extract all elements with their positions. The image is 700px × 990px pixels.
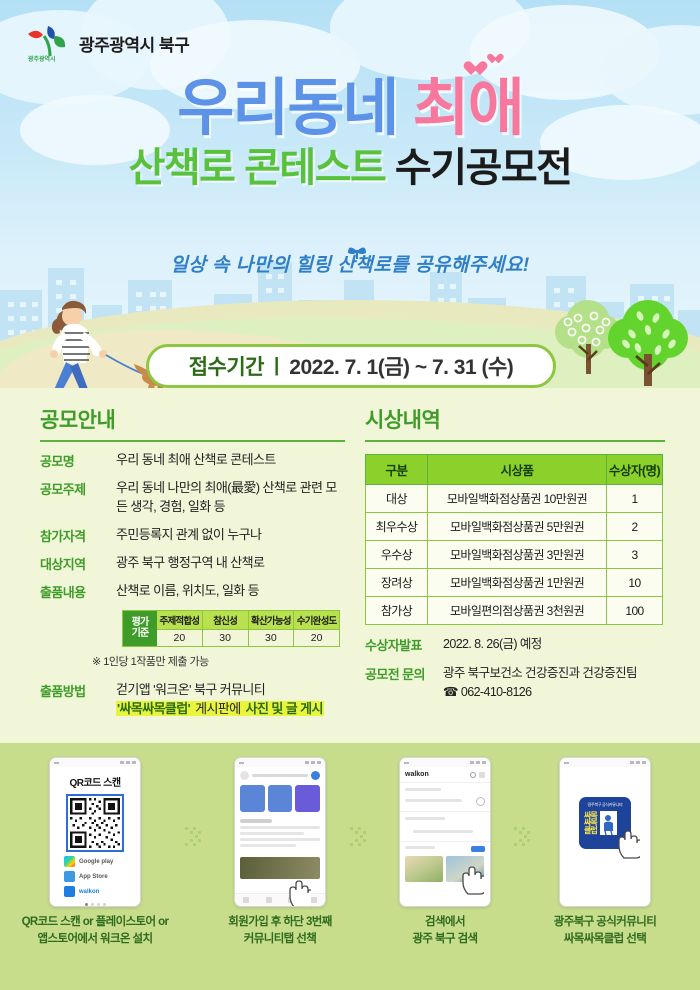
status-icons (470, 761, 486, 764)
submission-note: ※ 1인당 1작품만 제출 가능 (92, 653, 345, 669)
brand-name-label: 광주광역시 북구 (79, 31, 189, 56)
prize-grade: 우수상 (366, 541, 428, 569)
prizes-column: 시상내역 구분 시상품 수상자(명) 대상 모바일백화점상품권 10만원권 1 (365, 404, 665, 702)
card-title-line3: 클럽 (584, 826, 597, 835)
evaluation-body: 주제적합성 참신성 확산가능성 수기완성도 20 30 30 20 (157, 611, 339, 646)
more-badge[interactable] (471, 846, 485, 852)
qr-screen-title: QR코드 스캔 (50, 774, 140, 789)
guide-row-key: 참가자격 (40, 526, 116, 545)
prize-col-item: 시상품 (428, 455, 607, 485)
phone-mockup-2 (234, 757, 326, 907)
feed-item (240, 844, 296, 847)
submission-method-line1: 걷기앱 '워크온' 북구 커뮤니티 (116, 682, 265, 697)
feed-item (240, 826, 320, 829)
community-board-name: '싸목싸목클럽' (116, 701, 191, 716)
guide-row-value: 주민등록지 관계 없이 누구나 (116, 526, 261, 545)
table-row: 우수상 모바일백화점상품권 3만원권 3 (366, 541, 663, 569)
hand-cursor-icon (287, 880, 311, 907)
challenge-cards (235, 782, 325, 815)
qr-code-svg (70, 798, 120, 848)
divider (365, 440, 665, 442)
app-header: walkon (400, 767, 490, 783)
heart-icon (489, 54, 500, 65)
sprout-icon (347, 243, 367, 264)
nav-home-icon[interactable] (235, 894, 258, 906)
poster-title: 우리동네 최애 산책로 콘테스트 수기공모전 (0, 78, 700, 188)
section-title (405, 817, 445, 820)
recommend-section (400, 812, 490, 842)
step-4: '광주북구 공식커뮤니티' 싸목 싸목 클럽 (530, 757, 680, 947)
menu-icon (54, 762, 59, 764)
guide-heading: 공모안내 (40, 404, 345, 434)
guide-row-value: 우리 동네 나만의 최애(最愛) 산책로 관련 모든 생각, 경험, 일화 등 (116, 479, 345, 517)
guide-row-value: 광주 북구 행정구역 내 산책로 (116, 554, 264, 573)
submission-period-banner: 접수기간 | 2022. 7. 1(금) ~ 7. 31 (수) (146, 344, 556, 388)
separator: | (274, 355, 279, 377)
contact-row: 공모전 문의 광주 북구보건소 건강증진과 건강증진팀 ☎ 062-410-81… (365, 664, 665, 702)
search-section (400, 783, 490, 812)
step-1-caption-line1: QR코드 스캔 or 플레이스토어 or (22, 916, 169, 928)
contact-org: 광주 북구보건소 건강증진과 건강증진팀 (443, 666, 637, 680)
hand-cursor-icon (460, 866, 484, 896)
evaluation-score: 20 (157, 629, 203, 646)
settings-icon (311, 771, 320, 780)
svg-text:광주광역시: 광주광역시 (28, 55, 56, 63)
evaluation-label-line1: 평가 (132, 617, 149, 629)
store-badge-google-play[interactable]: Google play (64, 856, 126, 867)
status-bar (560, 758, 650, 767)
profile-name-placeholder (252, 774, 308, 777)
evaluation-label-line2: 기준 (132, 628, 149, 640)
dot (97, 903, 100, 906)
community-card-subtitle: '광주북구 공식커뮤니티' (584, 802, 626, 808)
prize-item: 모바일백화점상품권 5만원권 (428, 513, 607, 541)
guide-row: 공모명 우리 동네 최애 산책로 콘테스트 (40, 451, 345, 470)
guide-row-key: 출품내용 (40, 582, 116, 601)
divider (40, 440, 345, 442)
title-part-neighborhood: 우리동네 (177, 74, 397, 143)
submission-period-label: 접수기간 (189, 351, 264, 381)
prize-count: 100 (607, 597, 663, 625)
evaluation-criterion: 참신성 (203, 611, 249, 629)
bottom-nav[interactable] (235, 893, 325, 906)
step-4-caption-line2: 싸목싸목클럽 선택 (564, 933, 646, 945)
walkon-logo: walkon (405, 771, 429, 778)
prize-table-header: 구분 시상품 수상자(명) (366, 455, 663, 485)
store-label: walkon (79, 889, 99, 895)
battery-icon (132, 761, 136, 764)
menu-icon (564, 762, 569, 764)
challenge-card[interactable] (268, 785, 293, 812)
table-row: 참가상 모바일편의점상품권 3천원권 100 (366, 597, 663, 625)
step-1-caption-line2: 앱스토어에서 워크온 설치 (38, 933, 153, 945)
phone-icon: ☎ (443, 685, 458, 699)
title-part-favorite: 최애 (413, 74, 523, 143)
evaluation-score: 20 (294, 629, 339, 646)
walkon-icon (64, 886, 75, 897)
submission-method-value: 걷기앱 '워크온' 북구 커뮤니티 '싸목싸목클럽' 게시판에 사진 및 글 게… (116, 681, 324, 719)
community-card-title: 싸목 싸목 클럽 (584, 812, 597, 835)
wifi-icon (476, 761, 480, 764)
prize-count: 3 (607, 541, 663, 569)
evaluation-criterion: 수기완성도 (294, 611, 339, 629)
avatar (240, 771, 249, 780)
battery-icon (482, 761, 486, 764)
alarm-icon[interactable] (479, 772, 485, 778)
step-2-caption-line2: 커뮤니티탭 선책 (244, 933, 316, 945)
phone-mockup-4: '광주북구 공식커뮤니티' 싸목 싸목 클럽 (559, 757, 651, 907)
google-play-icon (64, 856, 75, 867)
how-to-steps-section: QR코드 스캔 (0, 743, 700, 990)
table-row: 장려상 모바일백화점상품권 1만원권 10 (366, 569, 663, 597)
prize-col-grade: 구분 (366, 455, 428, 485)
signal-icon (305, 761, 309, 764)
gwangju-bukgu-logo-icon: 광주광역시 (24, 22, 70, 64)
step-1-caption: QR코드 스캔 or 플레이스토어 or 앱스토어에서 워크온 설치 (20, 914, 170, 947)
title-part-contest: 산책로 콘테스트 (129, 146, 386, 190)
prize-table: 구분 시상품 수상자(명) 대상 모바일백화점상품권 10만원권 1 최우수상 … (365, 454, 663, 625)
title-part-essay: 수기공모전 (395, 146, 572, 190)
feed-item (240, 832, 304, 835)
guide-row-value: 산책로 이름, 위치도, 일화 등 (116, 582, 259, 601)
store-label: Google play (79, 859, 113, 865)
step-2-caption: 회원가입 후 하단 3번째 커뮤니티탭 선책 (205, 914, 355, 947)
prize-item: 모바일백화점상품권 1만원권 (428, 569, 607, 597)
menu-icon (404, 762, 409, 764)
brand-header: 광주광역시 광주광역시 북구 (24, 22, 189, 64)
guide-row-key: 대상지역 (40, 554, 116, 573)
search-icon[interactable] (470, 772, 476, 778)
add-icon[interactable] (476, 797, 485, 806)
prize-grade: 장려상 (366, 569, 428, 597)
store-badge-app-store[interactable]: App Store (64, 871, 126, 882)
poster-root: 광주광역시 광주광역시 북구 우리동네 최애 산책로 콘테스트 수기공모전 일상… (0, 0, 700, 990)
section-title (405, 846, 435, 849)
table-row: 대상 모바일백화점상품권 10만원권 1 (366, 485, 663, 513)
status-bar (50, 758, 140, 767)
evaluation-criteria-table: 평가 기준 주제적합성 참신성 확산가능성 수기완성도 20 30 30 20 (122, 610, 340, 647)
announcement-key: 수상자발표 (365, 635, 443, 654)
evaluation-score: 30 (203, 629, 249, 646)
announcement-row: 수상자발표 2022. 8. 26(금) 예정 (365, 635, 665, 654)
status-icons (305, 761, 321, 764)
prize-grade: 최우수상 (366, 513, 428, 541)
battery-icon (642, 761, 646, 764)
info-section: 공모안내 공모명 우리 동네 최애 산책로 콘테스트 공모주제 우리 동네 나만… (0, 388, 700, 743)
evaluation-criterion: 주제적합성 (157, 611, 203, 629)
guide-row-key: 공모주제 (40, 479, 116, 517)
contact-phone: 062-410-8126 (461, 685, 532, 699)
prize-count: 2 (607, 513, 663, 541)
guide-row: 공모주제 우리 동네 나만의 최애(最愛) 산책로 관련 모든 생각, 경험, … (40, 479, 345, 517)
contact-key: 공모전 문의 (365, 664, 443, 702)
guide-row: 출품내용 산책로 이름, 위치도, 일화 등 (40, 582, 345, 601)
step-2: 회원가입 후 하단 3번째 커뮤니티탭 선책 (205, 757, 355, 947)
status-bar (235, 758, 325, 767)
step-1: QR코드 스캔 (20, 757, 170, 947)
wifi-icon (126, 761, 130, 764)
challenge-card[interactable] (295, 785, 320, 812)
step-3: walkon (370, 757, 520, 947)
evaluation-header-row: 주제적합성 참신성 확산가능성 수기완성도 (157, 611, 339, 629)
submission-method-action: 사진 및 글 게시 (245, 701, 324, 716)
profile-bar (235, 767, 325, 782)
section-title (405, 788, 441, 791)
qr-code (66, 794, 124, 852)
dot (103, 903, 106, 906)
prize-item: 모바일편의점상품권 3천원권 (428, 597, 607, 625)
table-row: 최우수상 모바일백화점상품권 5만원권 2 (366, 513, 663, 541)
empty-text (413, 830, 473, 833)
prize-item: 모바일백화점상품권 10만원권 (428, 485, 607, 513)
wifi-icon (311, 761, 315, 764)
phone-mockup-1: QR코드 스캔 (49, 757, 141, 907)
evaluation-score: 30 (249, 629, 295, 646)
menu-icon (239, 762, 244, 764)
battery-icon (317, 761, 321, 764)
photo-thumbnail-food[interactable] (405, 856, 443, 882)
guide-row-key: 공모명 (40, 451, 116, 470)
prize-col-count: 수상자(명) (607, 455, 663, 485)
evaluation-score-row: 20 30 30 20 (157, 629, 339, 646)
card-illustration (600, 811, 617, 835)
prize-count: 1 (607, 485, 663, 513)
carousel-dots[interactable] (50, 903, 140, 906)
step-4-caption-line1: 광주북구 공식커뮤니티 (554, 916, 656, 928)
step-3-caption: 검색에서 광주 북구 검색 (370, 914, 520, 947)
submission-method-row: 출품방법 걷기앱 '워크온' 북구 커뮤니티 '싸목싸목클럽' 게시판에 사진 … (40, 681, 345, 719)
signal-icon (120, 761, 124, 764)
prizes-heading: 시상내역 (365, 404, 665, 434)
hand-cursor-icon (616, 830, 640, 860)
evaluation-criterion: 확산가능성 (249, 611, 295, 629)
prize-item: 모바일백화점상품권 3만원권 (428, 541, 607, 569)
phone-mockup-3: walkon (399, 757, 491, 907)
title-line-2: 산책로 콘테스트 수기공모전 (0, 148, 700, 188)
heart-icon (467, 62, 483, 77)
dot-active (85, 903, 88, 906)
submission-method-line2-mid: 게시판에 (191, 701, 244, 716)
title-line-1: 우리동네 최애 (0, 78, 700, 140)
promo-banner[interactable] (240, 857, 320, 879)
feed-item (240, 819, 272, 823)
feed-list (235, 815, 325, 854)
status-icons (120, 761, 136, 764)
step-3-caption-line1: 검색에서 (425, 916, 465, 928)
guide-row: 대상지역 광주 북구 행정구역 내 산책로 (40, 554, 345, 573)
empty-text (405, 799, 462, 802)
signal-icon (630, 761, 634, 764)
nav-challenge-icon[interactable] (258, 894, 281, 906)
empty-state (405, 797, 485, 806)
prize-count: 10 (607, 569, 663, 597)
guide-row-value: 우리 동네 최애 산책로 콘테스트 (116, 451, 276, 470)
evaluation-label: 평가 기준 (123, 611, 157, 646)
submission-period-value: 2022. 7. 1(금) ~ 7. 31 (수) (289, 351, 513, 381)
guide-column: 공모안내 공모명 우리 동네 최애 산책로 콘테스트 공모주제 우리 동네 나만… (40, 404, 345, 718)
recent-community-header (400, 842, 490, 852)
dot (91, 903, 94, 906)
header-icons[interactable] (470, 772, 485, 778)
store-badge-walkon[interactable]: walkon (64, 886, 126, 897)
prize-grade: 참가상 (366, 597, 428, 625)
tree-illustration (548, 282, 698, 400)
step-2-caption-line1: 회원가입 후 하단 3번째 (228, 916, 331, 928)
announcement-value: 2022. 8. 26(금) 예정 (443, 635, 542, 654)
app-store-icon (64, 871, 75, 882)
store-label: App Store (79, 874, 108, 880)
guide-row: 참가자격 주민등록지 관계 없이 누구나 (40, 526, 345, 545)
step-4-caption: 광주북구 공식커뮤니티 싸목싸목클럽 선택 (530, 914, 680, 947)
submission-method-key: 출품방법 (40, 681, 116, 719)
signal-icon (470, 761, 474, 764)
status-bar (400, 758, 490, 767)
wifi-icon (636, 761, 640, 764)
prize-grade: 대상 (366, 485, 428, 513)
step-3-caption-line2: 광주 북구 검색 (412, 933, 477, 945)
contact-value: 광주 북구보건소 건강증진과 건강증진팀 ☎ 062-410-8126 (443, 664, 637, 702)
feed-item (240, 838, 320, 841)
challenge-card[interactable] (240, 785, 265, 812)
status-icons (630, 761, 646, 764)
